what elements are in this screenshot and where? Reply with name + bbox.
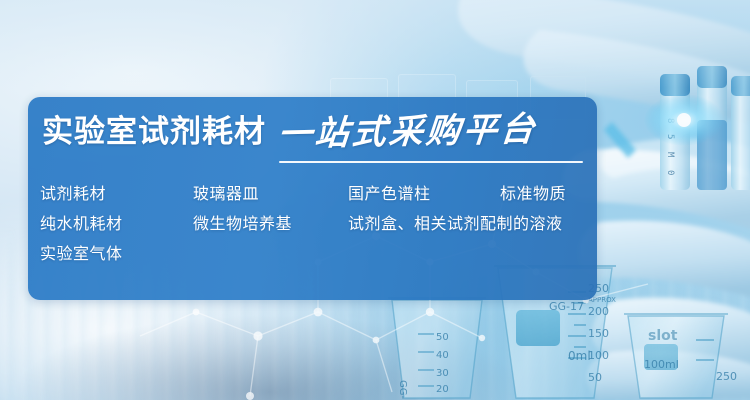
category-row: 实验室气体 (40, 240, 596, 270)
headline-script: 一站式采购平台 (276, 112, 538, 151)
panel-content: 实验室试剂耗材 一站式采购平台 试剂耗材 玻璃器皿 国产色谱柱 标准物质 纯水机… (28, 97, 597, 300)
category-item[interactable]: 国产色谱柱 (348, 180, 431, 210)
category-item[interactable]: 标准物质 (500, 180, 566, 210)
category-item[interactable]: 玻璃器皿 (193, 180, 259, 210)
headline-row: 实验室试剂耗材 一站式采购平台 (42, 115, 537, 149)
headline-underline (279, 161, 583, 163)
category-item[interactable]: 微生物培养基 (193, 210, 292, 240)
category-item[interactable]: 试剂盒、相关试剂配制的溶液 (348, 210, 563, 240)
category-row: 纯水机耗材 微生物培养基 试剂盒、相关试剂配制的溶液 (40, 210, 596, 240)
category-item[interactable]: 试剂耗材 (40, 180, 106, 210)
category-list: 试剂耗材 玻璃器皿 国产色谱柱 标准物质 纯水机耗材 微生物培养基 试剂盒、相关… (40, 180, 596, 270)
category-item[interactable]: 纯水机耗材 (40, 210, 123, 240)
promo-banner: 8 5 M 0 (0, 0, 750, 400)
category-row: 试剂耗材 玻璃器皿 国产色谱柱 标准物质 (40, 180, 596, 210)
category-item[interactable]: 实验室气体 (40, 240, 123, 270)
headline-primary: 实验室试剂耗材 (42, 115, 266, 149)
